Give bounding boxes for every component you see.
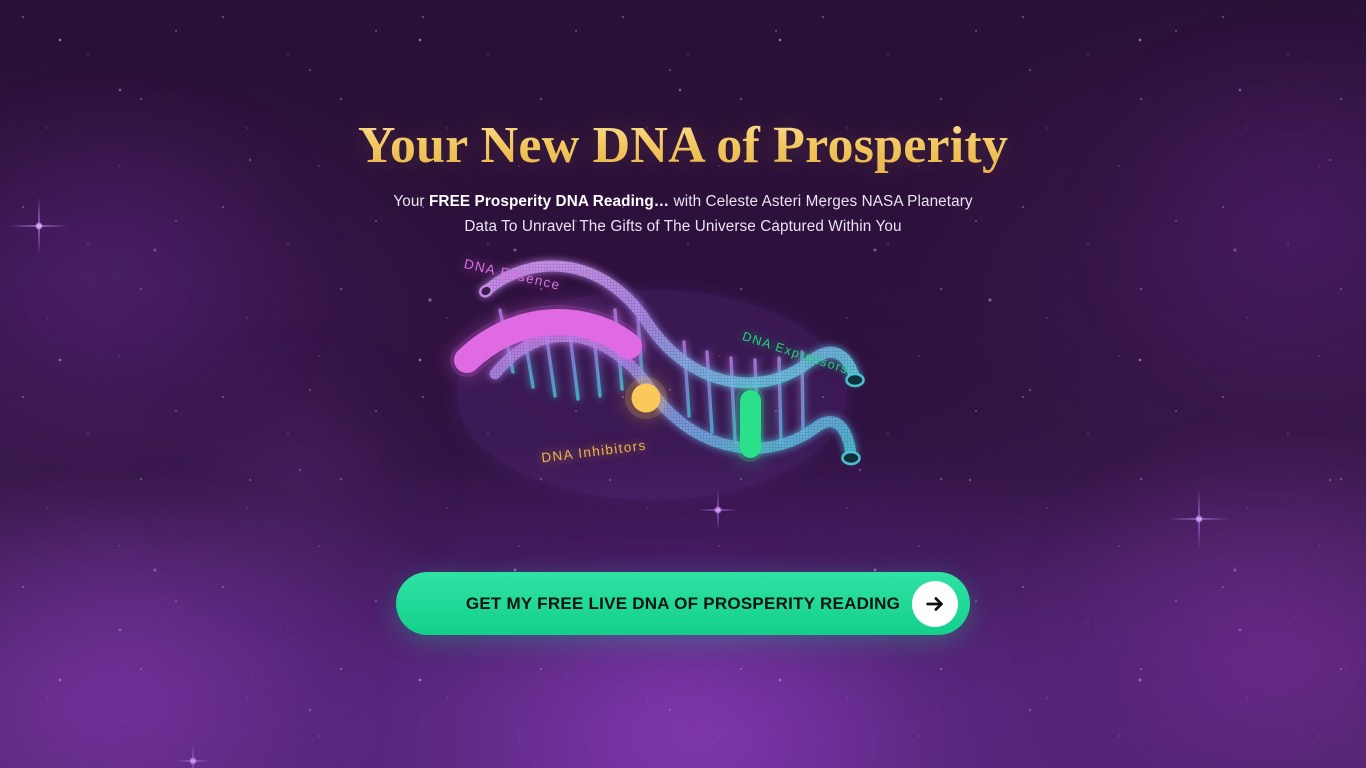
cta-button-label: GET MY FREE LIVE DNA OF PROSPERITY READI…: [466, 594, 900, 614]
nebula-glow-right: [1020, 470, 1366, 768]
hero-subheadline: Your FREE Prosperity DNA Reading… with C…: [383, 190, 983, 240]
sparkle-star-lower-left: [176, 744, 210, 768]
subhead-emphasis: FREE Prosperity DNA Reading…: [429, 193, 669, 210]
marker-inhibitor-dot: [625, 377, 667, 419]
subhead-lead: Your: [393, 193, 429, 210]
nebula-glow-left: [0, 520, 390, 768]
dna-illustration: DNA Essence DNA Expressors DNA Inhibitor…: [437, 250, 877, 540]
cta-button[interactable]: GET MY FREE LIVE DNA OF PROSPERITY READI…: [396, 572, 970, 635]
marker-expressor-capsule: [736, 386, 764, 462]
page-title: Your New DNA of Prosperity: [0, 118, 1366, 174]
hero-page: Your New DNA of Prosperity Your FREE Pro…: [0, 0, 1366, 768]
arrow-right-icon: [912, 581, 958, 627]
hero-content: Your New DNA of Prosperity Your FREE Pro…: [0, 0, 1366, 240]
nebula-dust-mid-left: [170, 380, 430, 580]
sparkle-star-right-edge: [1168, 488, 1230, 550]
